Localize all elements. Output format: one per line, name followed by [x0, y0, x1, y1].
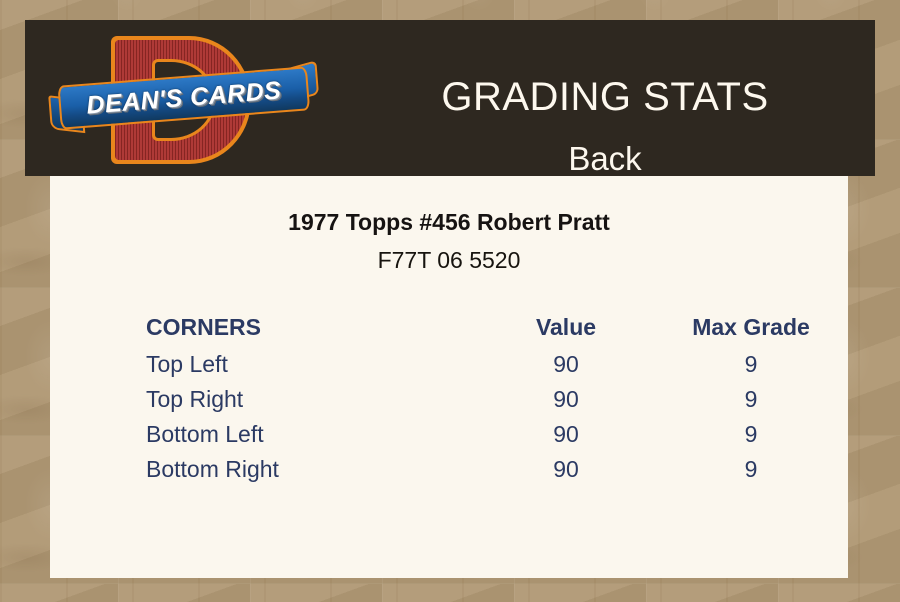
table-row: Top Left 90 9: [146, 347, 846, 382]
row-label: Bottom Left: [146, 417, 476, 452]
page-subtitle: Back: [325, 140, 885, 178]
row-max-grade: 9: [656, 452, 846, 487]
deans-cards-logo[interactable]: DEAN'S CARDS: [49, 26, 319, 172]
header-band: DEAN'S CARDS GRADING STATS Back: [25, 20, 875, 176]
row-label: Bottom Right: [146, 452, 476, 487]
card-serial-number: F77T 06 5520: [50, 247, 848, 274]
row-max-grade: 9: [656, 347, 846, 382]
content-panel: 1977 Topps #456 Robert Pratt F77T 06 552…: [50, 176, 848, 578]
table-row: Bottom Left 90 9: [146, 417, 846, 452]
row-value: 90: [476, 382, 656, 417]
grading-stats-table: CORNERS Value Max Grade Top Left 90 9 To…: [146, 308, 846, 487]
logo-ribbon-banner: DEAN'S CARDS: [47, 61, 321, 138]
row-max-grade: 9: [656, 417, 846, 452]
row-label: Top Left: [146, 347, 476, 382]
table-row: Top Right 90 9: [146, 382, 846, 417]
table-body: Top Left 90 9 Top Right 90 9 Bottom Left…: [146, 347, 846, 487]
grading-stats-page: DEAN'S CARDS GRADING STATS Back 1977 Top…: [0, 0, 900, 602]
row-value: 90: [476, 452, 656, 487]
row-value: 90: [476, 417, 656, 452]
row-label: Top Right: [146, 382, 476, 417]
column-header-corners: CORNERS: [146, 308, 476, 347]
table-header: CORNERS Value Max Grade: [146, 308, 846, 347]
column-header-value: Value: [476, 308, 656, 347]
column-header-max-grade: Max Grade: [656, 308, 846, 347]
card-title: 1977 Topps #456 Robert Pratt: [50, 209, 848, 236]
logo-wordmark: DEAN'S CARDS: [59, 66, 308, 129]
table-header-row: CORNERS Value Max Grade: [146, 308, 846, 347]
table-row: Bottom Right 90 9: [146, 452, 846, 487]
page-title: GRADING STATS: [325, 74, 885, 120]
row-max-grade: 9: [656, 382, 846, 417]
row-value: 90: [476, 347, 656, 382]
